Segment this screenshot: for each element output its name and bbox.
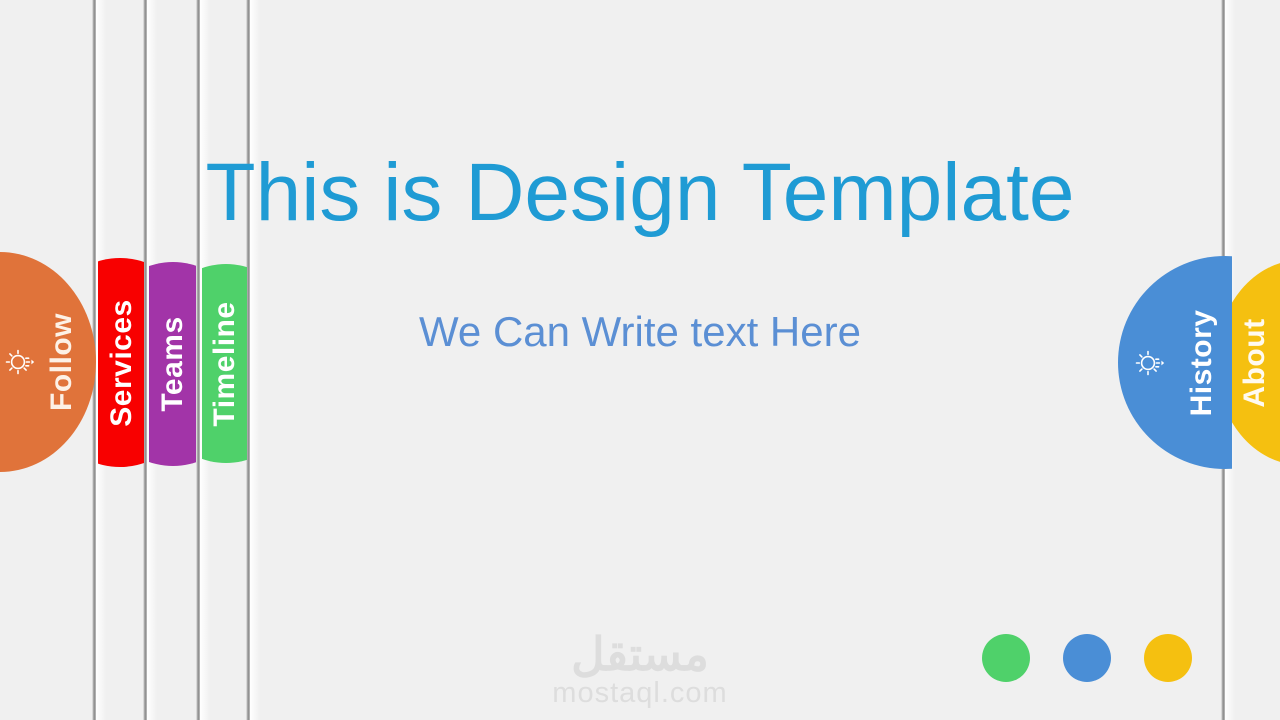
dot-green[interactable] — [982, 634, 1030, 682]
watermark-latin: mostaql.com — [552, 678, 727, 710]
slide-canvas: Follow Services Teams Timeline — [0, 0, 1280, 720]
page-title: This is Design Template — [0, 150, 1280, 236]
dot-indicator-group — [982, 634, 1192, 682]
watermark: مستقل mostaql.com — [552, 630, 727, 710]
tab-timeline[interactable]: Timeline — [202, 264, 247, 463]
dot-yellow[interactable] — [1144, 634, 1192, 682]
dot-blue[interactable] — [1063, 634, 1111, 682]
tab-services[interactable]: Services — [98, 258, 144, 467]
sheet-divider-4 — [246, 0, 260, 720]
divider-shadow — [196, 0, 200, 720]
page-subtitle: We Can Write text Here — [0, 308, 1280, 356]
watermark-arabic: مستقل — [552, 630, 727, 678]
tab-follow[interactable]: Follow — [0, 252, 96, 472]
tab-about[interactable]: About — [1232, 260, 1280, 465]
divider-sheet — [250, 0, 260, 720]
tab-teams[interactable]: Teams — [149, 262, 196, 466]
tab-history[interactable]: History — [1118, 256, 1232, 469]
